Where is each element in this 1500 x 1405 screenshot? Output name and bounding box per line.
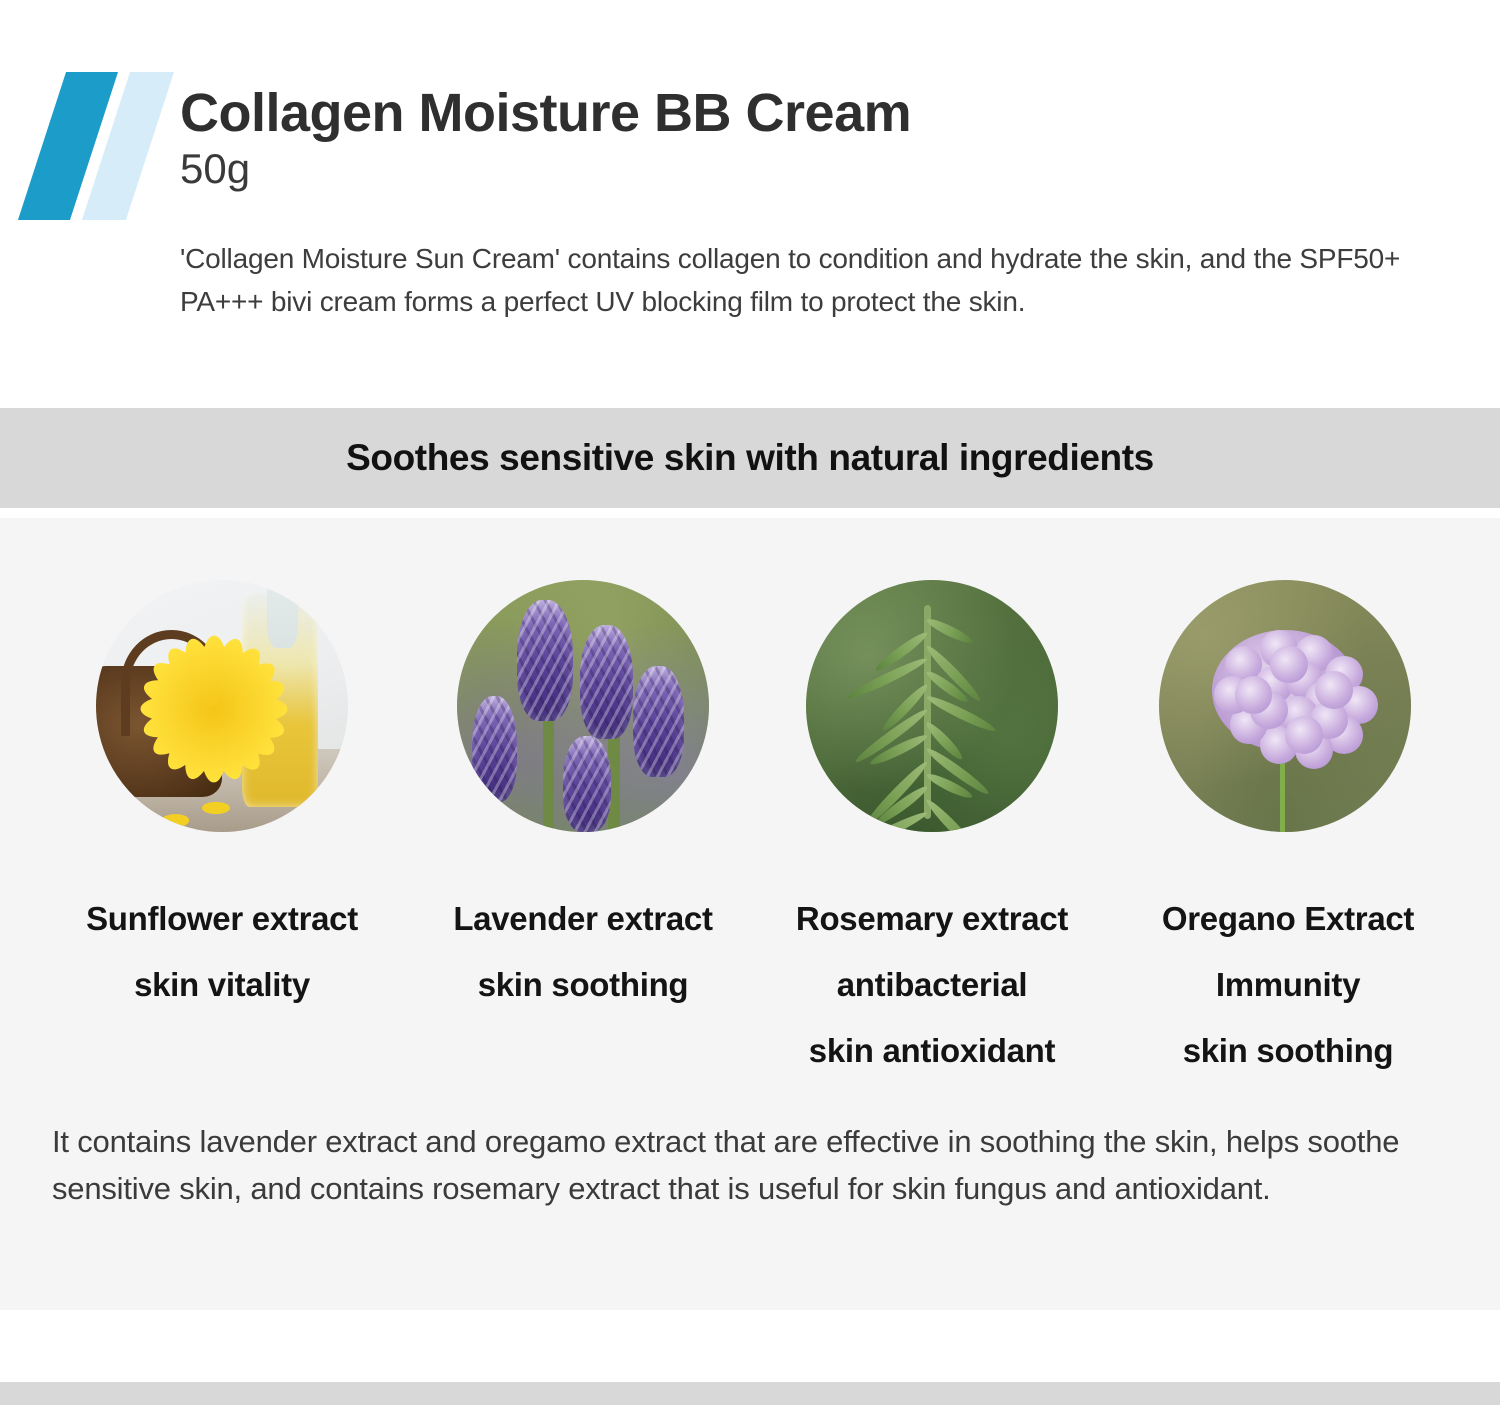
double-slash-logo-icon [14,72,144,220]
ingredient-image-row [0,580,1500,835]
rosemary-extract-image [806,580,1058,832]
ingredient-benefit: skin soothing [412,952,754,1018]
ingredient-benefit: skin soothing [1112,1018,1464,1084]
ingredient-benefit: Immunity [1112,952,1464,1018]
ingredients-note: It contains lavender extract and oregamo… [52,1118,1462,1213]
product-description: 'Collagen Moisture Sun Cream' contains c… [180,238,1480,323]
sunflower-extract-image [96,580,348,832]
ingredient-name: Oregano Extract [1112,886,1464,952]
ingredients-panel: Sunflower extract skin vitality Lavender… [0,518,1500,1310]
page-title: Collagen Moisture BB Cream [180,84,1470,142]
ingredient-name: Lavender extract [412,886,754,952]
lavender-extract-image [457,580,709,832]
ingredient-name: Sunflower extract [36,886,408,952]
ingredient-label-sunflower: Sunflower extract skin vitality [36,886,408,1018]
ingredient-label-lavender: Lavender extract skin soothing [412,886,754,1018]
ingredient-label-rosemary: Rosemary extract antibacterial skin anti… [758,886,1106,1084]
product-size: 50g [180,144,1470,194]
section-heading: Soothes sensitive skin with natural ingr… [346,437,1154,479]
title-block: Collagen Moisture BB Cream 50g [180,84,1470,194]
ingredient-benefit: antibacterial [758,952,1106,1018]
section-banner: Soothes sensitive skin with natural ingr… [0,408,1500,508]
ingredient-benefit: skin antioxidant [758,1018,1106,1084]
product-detail-page: Collagen Moisture BB Cream 50g 'Collagen… [0,0,1500,1405]
oregano-extract-image [1159,580,1411,832]
page-header: Collagen Moisture BB Cream 50g 'Collagen… [0,0,1500,400]
ingredient-benefit: skin vitality [36,952,408,1018]
ingredient-label-oregano: Oregano Extract Immunity skin soothing [1112,886,1464,1084]
next-section-banner [0,1382,1500,1405]
ingredient-name: Rosemary extract [758,886,1106,952]
